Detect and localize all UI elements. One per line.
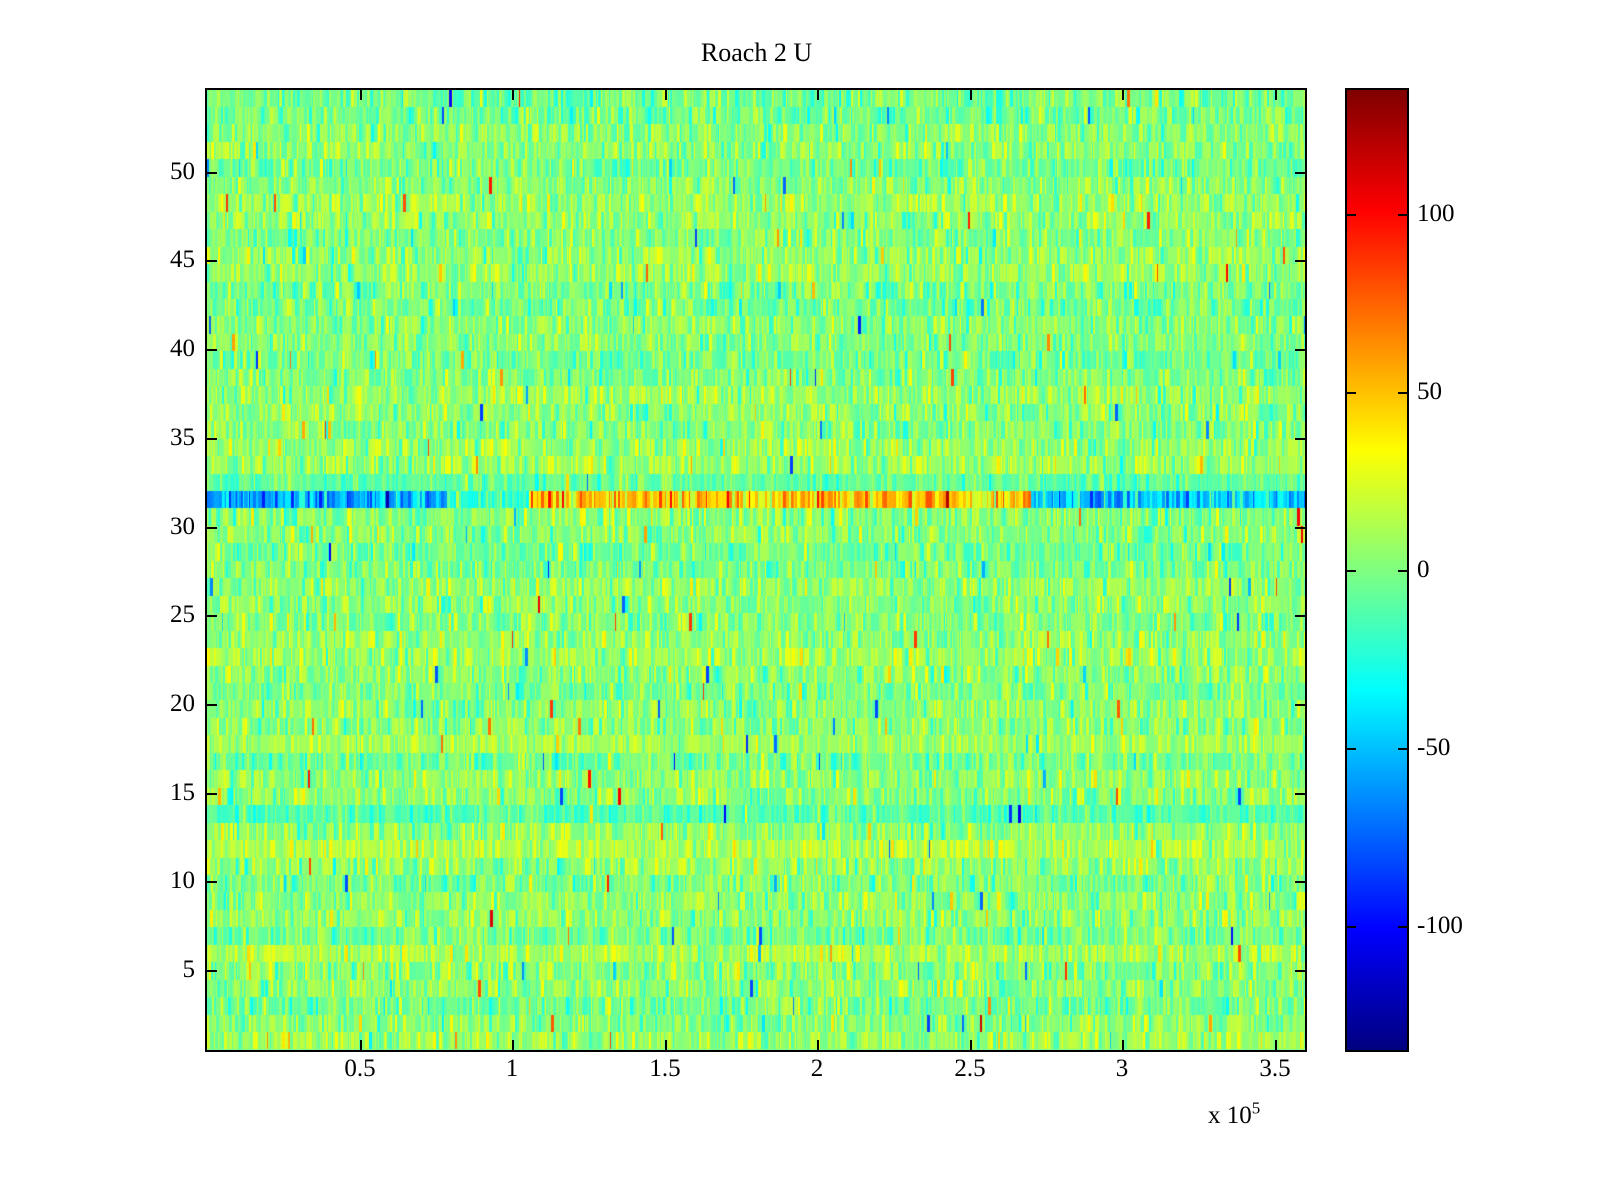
y-axis-tick-label: 10 xyxy=(170,868,195,893)
x-axis-tick-label: 1.5 xyxy=(649,1056,680,1081)
y-axis-tick-right xyxy=(1295,172,1307,174)
y-axis-tick-right xyxy=(1295,615,1307,617)
x-axis-tick-top xyxy=(512,88,514,100)
y-axis-tick xyxy=(205,260,217,262)
y-axis-tick-right xyxy=(1295,260,1307,262)
y-axis-tick-right xyxy=(1295,527,1307,529)
colorbar-tick-label: 100 xyxy=(1417,201,1455,226)
y-axis-tick xyxy=(205,615,217,617)
y-axis-tick-right xyxy=(1295,970,1307,972)
y-axis-tick xyxy=(205,881,217,883)
colorbar-tick-right xyxy=(1398,570,1409,572)
x-axis-tick xyxy=(665,1040,667,1052)
heatmap-image[interactable] xyxy=(207,90,1305,1050)
colorbar-tick-right xyxy=(1398,748,1409,750)
x-axis-tick-top xyxy=(817,88,819,100)
y-axis-tick-label: 25 xyxy=(170,602,195,627)
x-axis-tick xyxy=(970,1040,972,1052)
colorbar-tick xyxy=(1345,392,1356,394)
x-axis-tick xyxy=(1122,1040,1124,1052)
colorbar-tick-right xyxy=(1398,214,1409,216)
x-axis-tick-top xyxy=(665,88,667,100)
y-axis-tick-label: 45 xyxy=(170,247,195,272)
y-axis-tick-right xyxy=(1295,704,1307,706)
y-axis-tick xyxy=(205,349,217,351)
x-axis-tick-top xyxy=(360,88,362,100)
x-axis-tick xyxy=(360,1040,362,1052)
heatmap-axes[interactable] xyxy=(205,88,1307,1052)
colorbar-tick xyxy=(1345,570,1356,572)
colorbar-tick-right xyxy=(1398,926,1409,928)
y-axis-tick-label: 30 xyxy=(170,514,195,539)
x-axis-tick-label: 3.5 xyxy=(1259,1056,1290,1081)
y-axis-tick-label: 40 xyxy=(170,336,195,361)
y-axis-tick-label: 5 xyxy=(183,957,196,982)
y-axis-tick xyxy=(205,970,217,972)
page-title: Roach 2 U xyxy=(205,38,1308,68)
x-axis-tick-top xyxy=(1275,88,1277,100)
y-axis-tick-right xyxy=(1295,793,1307,795)
y-axis-tick xyxy=(205,527,217,529)
x-axis-tick xyxy=(512,1040,514,1052)
x-axis-exponent-mantissa: x 10 xyxy=(1208,1102,1252,1129)
matlab-figure: Roach 2 U 50454035302520151050.511.522.5… xyxy=(0,0,1600,1200)
colorbar-tick-label: 0 xyxy=(1417,557,1430,582)
x-axis-tick-top xyxy=(970,88,972,100)
colorbar-tick-label: -100 xyxy=(1417,913,1463,938)
x-axis-exponent-power: 5 xyxy=(1252,1099,1261,1118)
colorbar-tick xyxy=(1345,214,1356,216)
y-axis-tick-label: 50 xyxy=(170,159,195,184)
x-axis-tick-label: 2 xyxy=(811,1056,824,1081)
x-axis-tick-label: 3 xyxy=(1116,1056,1129,1081)
y-axis-tick-right xyxy=(1295,349,1307,351)
x-axis-tick-label: 1 xyxy=(506,1056,519,1081)
y-axis-tick-label: 35 xyxy=(170,425,195,450)
y-axis-tick-right xyxy=(1295,881,1307,883)
x-axis-tick-top xyxy=(1122,88,1124,100)
y-axis-tick-label: 20 xyxy=(170,691,195,716)
colorbar-tick-label: -50 xyxy=(1417,735,1450,760)
x-axis-tick-label: 0.5 xyxy=(344,1056,375,1081)
x-axis-exponent-label: x 105 xyxy=(1208,1102,1260,1129)
colorbar-tick-right xyxy=(1398,392,1409,394)
x-axis-tick xyxy=(817,1040,819,1052)
x-axis-tick-label: 2.5 xyxy=(954,1056,985,1081)
y-axis-tick-label: 15 xyxy=(170,780,195,805)
x-axis-tick xyxy=(1275,1040,1277,1052)
colorbar-tick xyxy=(1345,926,1356,928)
colorbar-tick-label: 50 xyxy=(1417,379,1442,404)
y-axis-tick xyxy=(205,704,217,706)
y-axis-tick xyxy=(205,793,217,795)
colorbar-tick xyxy=(1345,748,1356,750)
y-axis-tick xyxy=(205,438,217,440)
y-axis-tick xyxy=(205,172,217,174)
y-axis-tick-right xyxy=(1295,438,1307,440)
